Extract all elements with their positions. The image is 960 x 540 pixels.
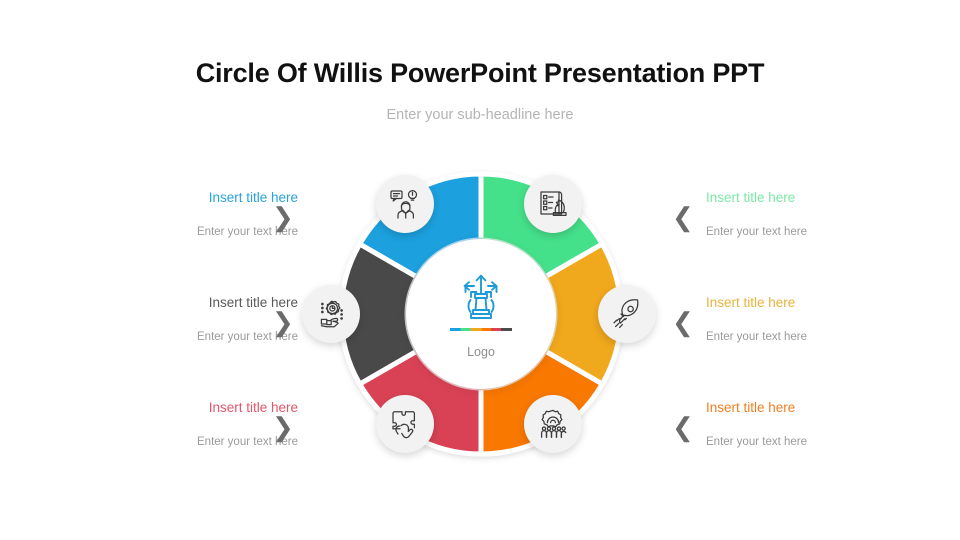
gear-target-hand-icon [314,297,348,331]
gear-team-icon [536,407,570,441]
slide-header: Circle Of Willis PowerPoint Presentation… [0,0,960,123]
icon-bubble-bottom-right[interactable] [524,395,582,453]
side-text: Enter your text here [706,206,876,239]
rocket-icon [610,297,644,331]
logo-label: Logo [467,345,495,359]
person-idea-icon [388,187,422,221]
side-label-right-1[interactable]: Insert title here Enter your text here [706,190,876,239]
chevron-left-icon: ❮ [672,204,694,230]
side-label-right-2[interactable]: Insert title here Enter your text here [706,295,876,344]
chevron-right-icon: ❯ [272,414,294,440]
chevron-left-icon: ❮ [672,309,694,335]
icon-bubble-top-right[interactable] [524,175,582,233]
side-text: Enter your text here [706,416,876,449]
chevron-right-icon: ❯ [272,309,294,335]
icon-bubble-right[interactable] [598,285,656,343]
chess-rook-arrows-icon [450,270,512,326]
page-subtitle: Enter your sub-headline here [0,89,960,123]
side-title: Insert title here [706,400,876,416]
circular-diagram: Logo [330,163,632,465]
side-text: Enter your text here [706,311,876,344]
icon-bubble-bottom-left[interactable] [376,395,434,453]
checklist-knight-icon [536,187,570,221]
side-title: Insert title here [706,295,876,311]
center-logo-hub[interactable]: Logo [406,239,556,389]
side-label-right-3[interactable]: Insert title here Enter your text here [706,400,876,449]
icon-bubble-top-left[interactable] [376,175,434,233]
page-title: Circle Of Willis PowerPoint Presentation… [0,0,960,89]
chevron-right-icon: ❯ [272,204,294,230]
puzzle-hand-icon [388,407,422,441]
logo-accent-bar [450,328,512,331]
side-title: Insert title here [706,190,876,206]
chevron-left-icon: ❮ [672,414,694,440]
icon-bubble-left[interactable] [302,285,360,343]
